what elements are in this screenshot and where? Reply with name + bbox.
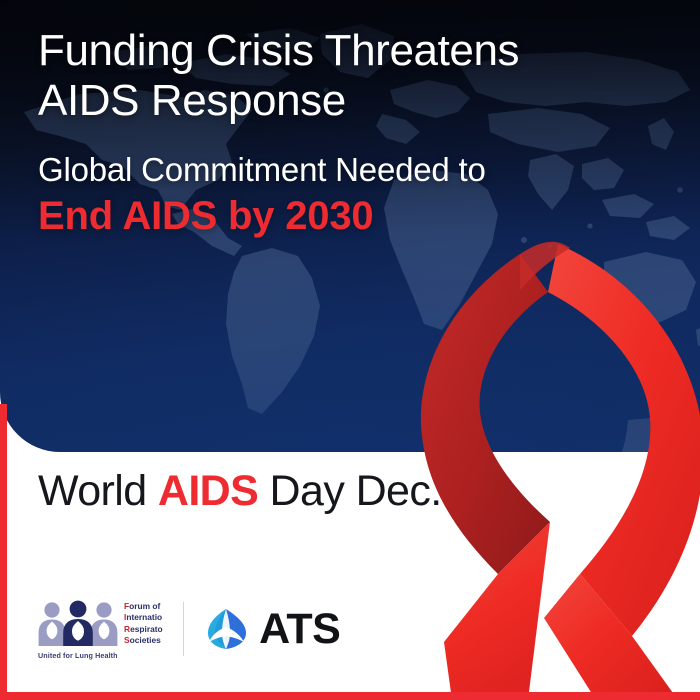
firs-line-3: Respirato — [124, 624, 163, 635]
firs-people-icon — [38, 599, 118, 649]
bottom-red-accent-bar — [0, 692, 700, 700]
firs-tagline: United for Lung Health — [38, 651, 118, 660]
ats-leaf-icon — [206, 606, 248, 652]
logo-row: Forum of Internatio Respirato Societies … — [38, 594, 340, 664]
firs-line-1: Forum of — [124, 601, 163, 612]
firs-logo: Forum of Internatio Respirato Societies … — [38, 599, 163, 660]
ats-wordmark: ATS — [259, 608, 340, 651]
subheadline: Global Commitment Needed to — [38, 151, 638, 189]
poster-canvas: Funding Crisis Threatens AIDS Response G… — [0, 0, 700, 700]
world-aids-day-title: World AIDS Day Dec.1 — [38, 467, 465, 516]
banner-prefix: World — [38, 467, 158, 515]
firs-line-2: Internatio — [124, 612, 163, 623]
firs-wordmark: Forum of Internatio Respirato Societies — [124, 601, 163, 645]
white-banner: World AIDS Day Dec.1 — [0, 452, 700, 700]
logo-divider — [183, 602, 185, 656]
ats-logo: ATS — [206, 606, 340, 652]
banner-highlight: AIDS — [158, 467, 258, 515]
page-title: Funding Crisis Threatens AIDS Response — [38, 26, 638, 126]
banner-suffix: Day Dec.1 — [258, 467, 465, 515]
headline-block: Funding Crisis Threatens AIDS Response G… — [38, 26, 638, 238]
emphasis-line: End AIDS by 2030 — [38, 194, 638, 238]
firs-line-4: Societies — [124, 635, 163, 646]
left-red-accent-bar — [0, 404, 7, 700]
